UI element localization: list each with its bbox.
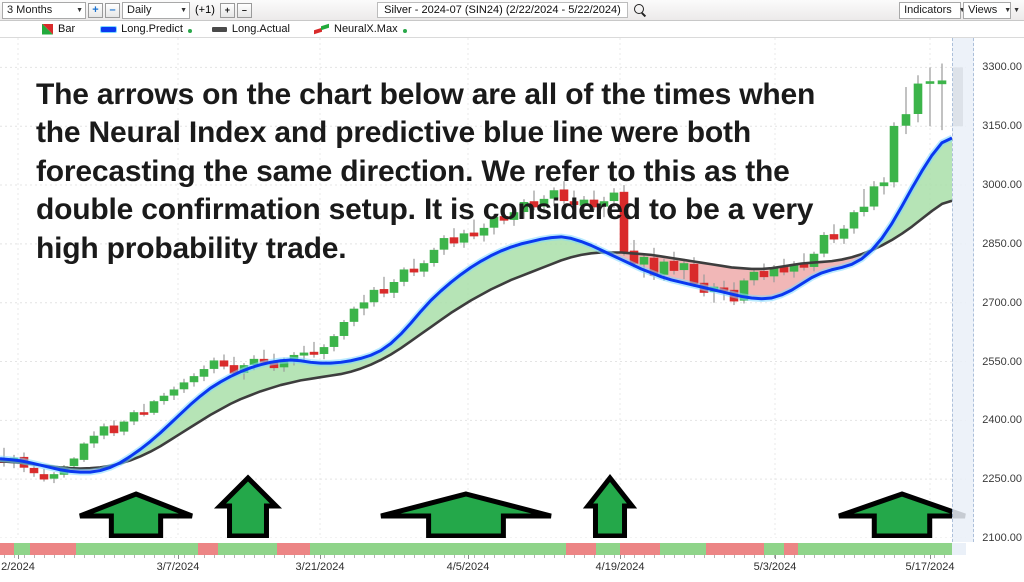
x-axis-minor-tick <box>864 555 865 558</box>
legend-label: NeuralX.Max <box>334 23 398 35</box>
candle-body <box>590 200 598 207</box>
candle-body <box>350 309 358 322</box>
candle-body <box>320 347 328 353</box>
x-axis-minor-tick <box>124 555 125 558</box>
neural-index-segment <box>620 543 660 555</box>
price-axis[interactable]: 3300.003150.003000.002850.002700.002550.… <box>966 38 1024 582</box>
indicators-dropdown[interactable]: Indicators ▼ <box>899 2 961 19</box>
price-plot[interactable] <box>0 38 966 538</box>
candle-body <box>570 202 578 205</box>
views-dropdown[interactable]: Views ▼ <box>963 2 1011 19</box>
x-axis-minor-tick <box>314 555 315 558</box>
candle-body <box>530 202 538 207</box>
y-axis-tick-label: 2850.00 <box>982 238 1022 250</box>
y-axis-tick-label: 2550.00 <box>982 356 1022 368</box>
candle-body <box>680 263 688 269</box>
x-axis-minor-tick <box>594 555 595 558</box>
candle-body <box>330 336 338 346</box>
candle-body <box>390 282 398 292</box>
candle-body <box>400 270 408 282</box>
x-axis-minor-tick <box>914 555 915 558</box>
candle-body <box>170 390 178 395</box>
x-axis-minor-tick <box>854 555 855 558</box>
candle-body <box>150 402 158 413</box>
candle-body <box>220 361 228 366</box>
x-axis-minor-tick <box>274 555 275 558</box>
x-axis-minor-tick <box>404 555 405 558</box>
x-axis-minor-tick <box>264 555 265 558</box>
x-axis-minor-tick <box>564 555 565 558</box>
indicators-label: Indicators <box>904 3 952 18</box>
candle-body <box>540 199 548 206</box>
x-axis-minor-tick <box>484 555 485 558</box>
candle-body <box>70 459 78 466</box>
signal-arrow-5 <box>839 494 965 536</box>
x-axis-minor-tick <box>234 555 235 558</box>
neural-index-segment <box>480 543 566 555</box>
candle-body <box>200 369 208 376</box>
legend-item-neuralx-max[interactable]: NeuralX.Max <box>314 23 407 35</box>
interval-increase-button[interactable]: + <box>220 3 235 18</box>
candle-body <box>120 422 128 431</box>
y-axis-tick-label: 3300.00 <box>982 61 1022 73</box>
candle-body <box>600 202 608 207</box>
x-axis-tick-label: 3/21/2024 <box>296 561 345 573</box>
blue-line-icon <box>101 27 116 32</box>
x-axis-minor-tick <box>204 555 205 558</box>
x-axis-minor-tick <box>524 555 525 558</box>
x-axis-minor-tick <box>74 555 75 558</box>
x-axis-minor-tick <box>904 555 905 558</box>
x-axis-minor-tick <box>84 555 85 558</box>
legend-item-long-actual[interactable]: Long.Actual <box>212 23 290 35</box>
x-axis-minor-tick <box>284 555 285 558</box>
gray-line-icon <box>212 27 227 32</box>
x-axis-minor-tick <box>334 555 335 558</box>
candle-body <box>750 272 758 280</box>
x-axis-minor-tick <box>414 555 415 558</box>
chart-application: 3 Months ▼ + – Daily ▼ (+1) + – Silver -… <box>0 0 1024 582</box>
candle-body <box>670 261 678 270</box>
chevron-down-icon: ▼ <box>76 3 83 18</box>
interval-dropdown[interactable]: Daily ▼ <box>122 2 190 19</box>
signal-arrow-3 <box>381 494 551 536</box>
x-axis-minor-tick <box>4 555 5 558</box>
candle-body <box>810 254 818 267</box>
x-axis-minor-tick <box>894 555 895 558</box>
x-axis-minor-tick <box>574 555 575 558</box>
candle-body <box>840 229 848 238</box>
candle-body <box>780 267 788 272</box>
views-label: Views <box>968 3 997 18</box>
chevron-down-icon: ▼ <box>1004 3 1011 18</box>
candle-body <box>420 263 428 271</box>
candle-body <box>100 427 108 436</box>
x-axis-minor-tick <box>174 555 175 558</box>
long-actual-line <box>0 201 952 469</box>
x-axis-minor-tick <box>134 555 135 558</box>
neural-index-segment <box>566 543 596 555</box>
x-axis-minor-tick <box>394 555 395 558</box>
x-axis-minor-tick <box>384 555 385 558</box>
x-axis-minor-tick <box>164 555 165 558</box>
period-value: 3 Months <box>7 3 52 18</box>
candle-body <box>470 233 478 236</box>
x-axis-minor-tick <box>674 555 675 558</box>
x-axis-minor-tick <box>114 555 115 558</box>
overflow-chevron-icon[interactable]: ▼ <box>1013 7 1022 14</box>
x-axis-minor-tick <box>764 555 765 558</box>
x-axis-minor-tick <box>34 555 35 558</box>
neural-index-segment <box>368 543 480 555</box>
candle-body <box>500 216 508 220</box>
neural-index-segment <box>784 543 798 555</box>
candle-body <box>90 436 98 443</box>
x-axis-minor-tick <box>754 555 755 558</box>
candle-body <box>620 192 628 252</box>
x-axis-minor-tick <box>874 555 875 558</box>
x-axis-minor-tick <box>244 555 245 558</box>
x-axis-tick <box>775 555 776 559</box>
candle-body <box>490 217 498 227</box>
neural-index-segment <box>30 543 76 555</box>
signal-arrow-1 <box>80 494 192 536</box>
x-axis-minor-tick <box>154 555 155 558</box>
x-axis-minor-tick <box>224 555 225 558</box>
x-axis-minor-tick <box>534 555 535 558</box>
x-axis-minor-tick <box>824 555 825 558</box>
candle-body <box>450 238 458 243</box>
x-axis-minor-tick <box>784 555 785 558</box>
x-axis-minor-tick <box>144 555 145 558</box>
candle-body <box>820 235 828 253</box>
signal-arrow-4 <box>588 478 632 536</box>
x-axis-minor-tick <box>474 555 475 558</box>
y-axis-tick-label: 2100.00 <box>982 532 1022 544</box>
interval-value: Daily <box>127 3 151 18</box>
candle-body <box>310 352 318 354</box>
long-predict-glow <box>0 138 952 472</box>
x-axis-minor-tick <box>444 555 445 558</box>
x-axis-minor-tick <box>294 555 295 558</box>
neural-index-segment <box>706 543 764 555</box>
candle-body <box>210 361 218 369</box>
candle-body <box>160 396 168 401</box>
x-axis-minor-tick <box>544 555 545 558</box>
x-axis-tick-label: 5/3/2024 <box>754 561 797 573</box>
x-axis-minor-tick <box>434 555 435 558</box>
candle-body <box>340 322 348 335</box>
period-dropdown[interactable]: 3 Months ▼ <box>2 2 86 19</box>
neural-index-segment <box>596 543 620 555</box>
x-axis-minor-tick <box>934 555 935 558</box>
x-axis-minor-tick <box>814 555 815 558</box>
toolbar: 3 Months ▼ + – Daily ▼ (+1) + – Silver -… <box>0 0 1024 21</box>
x-axis-minor-tick <box>104 555 105 558</box>
legend-status-dot-icon <box>403 29 407 33</box>
neural-index-future-segment <box>952 543 966 555</box>
neuralx-icon <box>314 25 329 34</box>
x-axis-minor-tick <box>794 555 795 558</box>
x-axis-minor-tick <box>374 555 375 558</box>
x-axis-minor-tick <box>734 555 735 558</box>
x-axis-minor-tick <box>924 555 925 558</box>
candle-body <box>938 81 946 84</box>
candle-body <box>110 426 118 433</box>
x-axis-minor-tick <box>884 555 885 558</box>
neural-index-segment <box>198 543 218 555</box>
candle-body <box>690 264 698 284</box>
x-axis-tick <box>620 555 621 559</box>
x-axis-minor-tick <box>664 555 665 558</box>
x-axis-tick <box>468 555 469 559</box>
long-predict-line <box>0 138 952 472</box>
x-axis-minor-tick <box>304 555 305 558</box>
x-axis-tick <box>178 555 179 559</box>
candle-body <box>860 207 868 212</box>
x-axis-minor-tick <box>714 555 715 558</box>
neural-index-segment <box>0 543 14 555</box>
candle-body <box>370 290 378 302</box>
candle-body <box>80 444 88 460</box>
x-axis-minor-tick <box>424 555 425 558</box>
candle-body <box>926 82 934 84</box>
x-axis-minor-tick <box>94 555 95 558</box>
x-axis-minor-tick <box>194 555 195 558</box>
x-axis-minor-tick <box>604 555 605 558</box>
legend-status-dot-icon <box>188 29 192 33</box>
neural-index-strip[interactable] <box>0 542 966 555</box>
x-axis-minor-tick <box>944 555 945 558</box>
x-axis-minor-tick <box>644 555 645 558</box>
candle-bar-icon <box>42 24 53 35</box>
candle-body <box>880 183 888 186</box>
candle-body <box>902 114 910 125</box>
candle-body <box>50 474 58 478</box>
search-icon[interactable] <box>633 3 647 17</box>
candle-body <box>550 191 558 199</box>
candle-body <box>640 257 648 264</box>
plot-svg <box>0 38 966 538</box>
x-axis-minor-tick <box>834 555 835 558</box>
x-axis-tick-label: 3/7/2024 <box>157 561 200 573</box>
x-axis-minor-tick <box>454 555 455 558</box>
neural-index-segment <box>764 543 784 555</box>
x-axis-minor-tick <box>724 555 725 558</box>
y-axis-tick-label: 3000.00 <box>982 179 1022 191</box>
candle-body <box>580 200 588 205</box>
x-axis-minor-tick <box>654 555 655 558</box>
x-axis-minor-tick <box>554 555 555 558</box>
candle-body <box>430 250 438 263</box>
legend-label: Bar <box>58 23 75 35</box>
x-axis-minor-tick <box>364 555 365 558</box>
candle-body <box>510 213 518 220</box>
y-axis-tick-label: 2400.00 <box>982 414 1022 426</box>
y-axis-tick-label: 2700.00 <box>982 297 1022 309</box>
candle-body <box>760 271 768 276</box>
x-axis-minor-tick <box>464 555 465 558</box>
legend-item-long-predict[interactable]: Long.Predict <box>101 23 192 35</box>
x-axis-minor-tick <box>684 555 685 558</box>
x-axis-minor-tick <box>804 555 805 558</box>
candle-body <box>830 234 838 239</box>
x-axis-tick-label: 4/5/2024 <box>447 561 490 573</box>
x-axis-minor-tick <box>64 555 65 558</box>
x-axis-minor-tick <box>254 555 255 558</box>
x-axis-tick-label: 4/19/2024 <box>596 561 645 573</box>
candle-body <box>140 413 148 415</box>
neural-index-segment <box>14 543 30 555</box>
x-axis-tick-label: 5/17/2024 <box>906 561 955 573</box>
candle-body <box>360 303 368 308</box>
x-axis-tick-label: 2/2024 <box>1 561 35 573</box>
date-axis[interactable]: 2/20243/7/20243/21/20244/5/20244/19/2024… <box>0 555 1024 582</box>
symbol-title[interactable]: Silver - 2024-07 (SIN24) (2/22/2024 - 5/… <box>377 2 628 18</box>
neural-index-segment <box>218 543 277 555</box>
x-axis-tick <box>930 555 931 559</box>
x-axis-tick <box>18 555 19 559</box>
x-axis-minor-tick <box>634 555 635 558</box>
y-axis-tick-label: 3150.00 <box>982 120 1022 132</box>
neural-index-segment <box>277 543 310 555</box>
x-axis-minor-tick <box>744 555 745 558</box>
candle-body <box>40 474 48 479</box>
candle-body <box>660 262 668 275</box>
x-axis-minor-tick <box>704 555 705 558</box>
legend-label: Long.Predict <box>121 23 183 35</box>
chart-area[interactable]: 3300.003150.003000.002850.002700.002550.… <box>0 38 1024 582</box>
candle-body <box>190 376 198 381</box>
candle-body <box>560 190 568 201</box>
period-decrease-button[interactable]: – <box>105 3 120 18</box>
candle-body <box>300 353 308 355</box>
neural-index-segment <box>76 543 198 555</box>
x-axis-minor-tick <box>514 555 515 558</box>
candle-body <box>850 213 858 229</box>
x-axis-minor-tick <box>504 555 505 558</box>
candle-body <box>440 238 448 249</box>
x-axis-minor-tick <box>354 555 355 558</box>
candle-body <box>460 234 468 243</box>
candle-body <box>890 126 898 182</box>
candle-body <box>30 468 38 473</box>
neural-index-segment <box>660 543 706 555</box>
candle-body <box>130 413 138 422</box>
candle-body <box>180 383 188 389</box>
x-axis-tick <box>320 555 321 559</box>
candle-body <box>480 228 488 235</box>
legend-item-bar[interactable]: Bar <box>42 23 75 35</box>
candle-body <box>380 289 388 293</box>
toolbar-right-group: Indicators ▼ Views ▼ ▼ <box>899 2 1022 19</box>
y-axis-tick-label: 2250.00 <box>982 473 1022 485</box>
x-axis-minor-tick <box>494 555 495 558</box>
candle-body <box>610 193 618 201</box>
period-increase-button[interactable]: + <box>88 3 103 18</box>
interval-decrease-button[interactable]: – <box>237 3 252 18</box>
candle-body <box>914 84 922 114</box>
x-axis-minor-tick <box>324 555 325 558</box>
x-axis-minor-tick <box>844 555 845 558</box>
candle-body <box>410 269 418 272</box>
legend-label: Long.Actual <box>232 23 290 35</box>
x-axis-minor-tick <box>54 555 55 558</box>
x-axis-minor-tick <box>24 555 25 558</box>
zoom-level-label: (+1) <box>192 4 218 16</box>
x-axis-minor-tick <box>694 555 695 558</box>
x-axis-minor-tick <box>14 555 15 558</box>
chevron-down-icon: ▼ <box>180 3 187 18</box>
neural-index-segment <box>798 543 952 555</box>
x-axis-minor-tick <box>214 555 215 558</box>
x-axis-minor-tick <box>584 555 585 558</box>
candle-body <box>870 187 878 207</box>
candle-body <box>520 202 528 211</box>
signal-arrow-2 <box>220 478 276 536</box>
x-axis-minor-tick <box>344 555 345 558</box>
x-axis-minor-tick <box>614 555 615 558</box>
x-axis-minor-tick <box>44 555 45 558</box>
x-axis-minor-tick <box>624 555 625 558</box>
series-legend: Bar Long.Predict Long.Actual NeuralX.Max <box>0 21 1024 38</box>
neural-index-segment <box>310 543 368 555</box>
x-axis-minor-tick <box>184 555 185 558</box>
